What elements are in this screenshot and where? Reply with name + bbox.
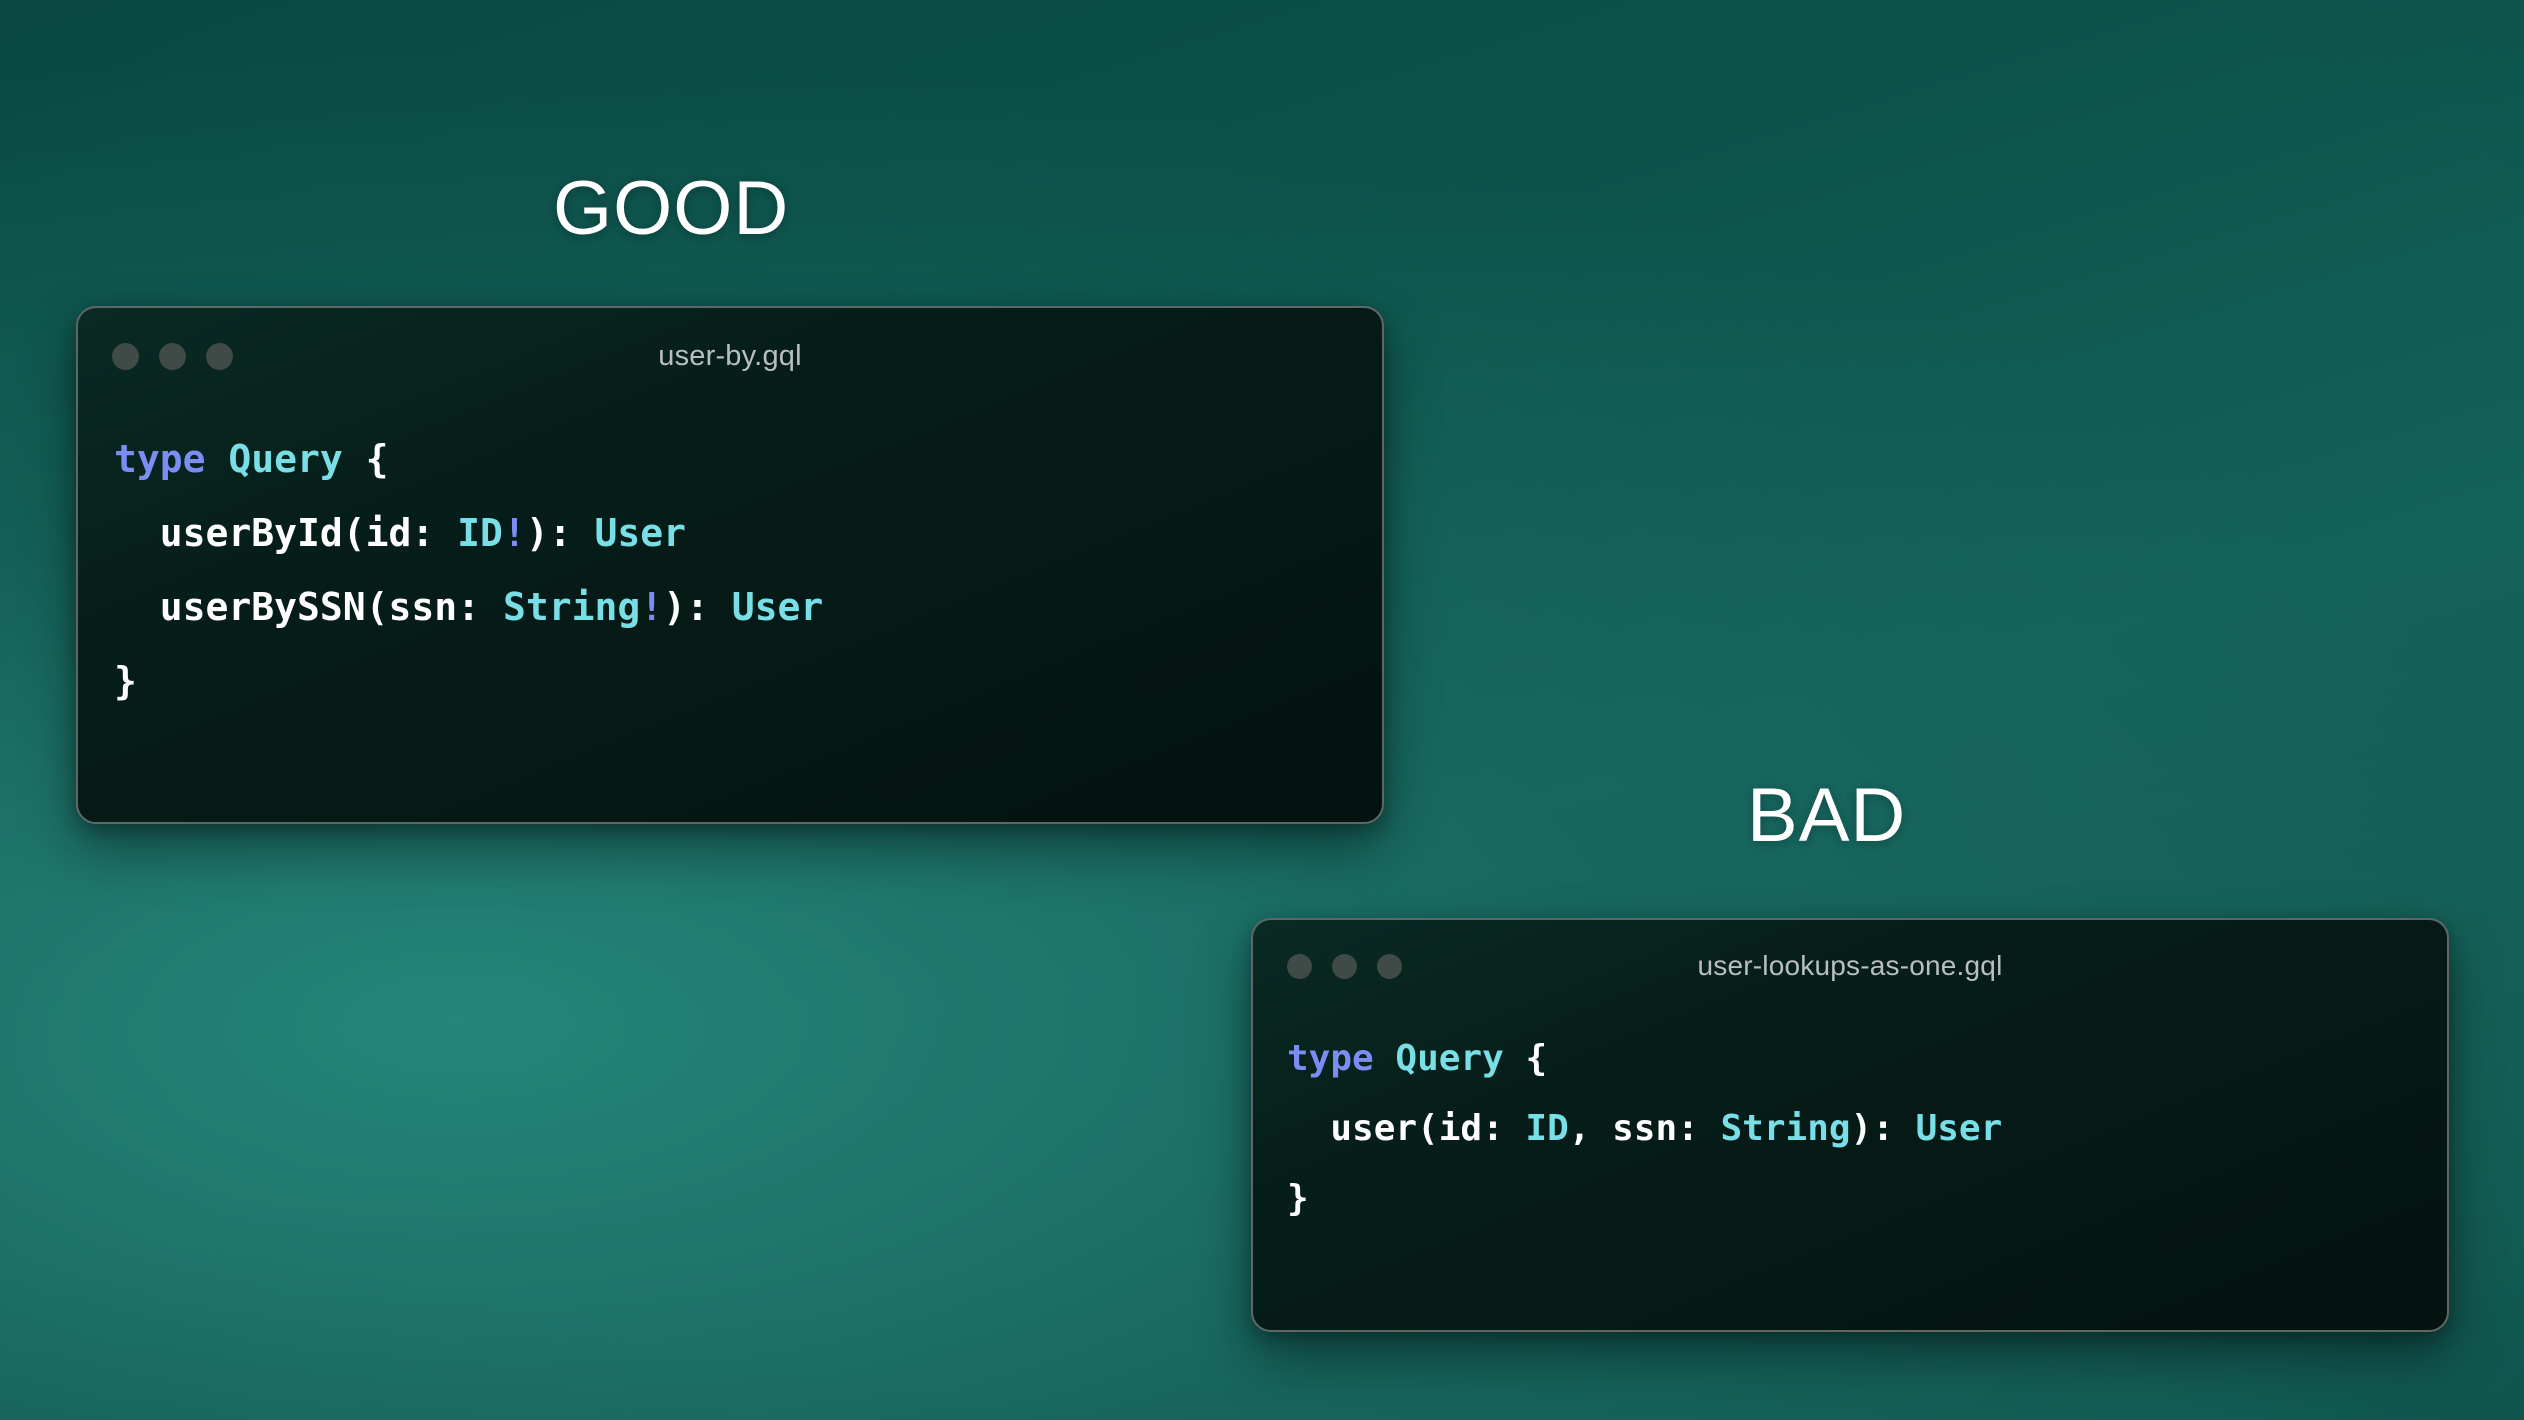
- window-controls-good: [112, 343, 233, 370]
- code-content-good: type Query { userById(id: ID!): User use…: [78, 404, 1382, 752]
- code-token-plain: userBySSN(ssn:: [114, 585, 503, 629]
- code-content-bad: type Query { user(id: ID, ssn: String): …: [1253, 1012, 2447, 1264]
- code-token-type: Query: [1395, 1038, 1503, 1079]
- window-minimize-dot-icon[interactable]: [1332, 954, 1357, 979]
- code-token-plain: }: [114, 659, 137, 703]
- window-close-dot-icon[interactable]: [112, 343, 139, 370]
- code-token-type: ID: [457, 511, 503, 555]
- code-token-plain: {: [1504, 1038, 1547, 1079]
- code-token-plain: [1374, 1038, 1396, 1079]
- code-line: type Query {: [1287, 1024, 2413, 1094]
- code-token-type: User: [732, 585, 824, 629]
- window-maximize-dot-icon[interactable]: [206, 343, 233, 370]
- code-token-type: User: [1916, 1108, 2003, 1149]
- code-card-good: user-by.gql type Query { userById(id: ID…: [76, 306, 1384, 824]
- code-token-type: String: [503, 585, 640, 629]
- titlebar-good: user-by.gql: [78, 308, 1382, 404]
- label-bad: BAD: [1747, 778, 1906, 854]
- code-token-plain: }: [1287, 1178, 1309, 1219]
- file-title-good: user-by.gql: [78, 340, 1382, 373]
- code-line: user(id: ID, ssn: String): User: [1287, 1094, 2413, 1164]
- window-close-dot-icon[interactable]: [1287, 954, 1312, 979]
- window-controls-bad: [1287, 954, 1402, 979]
- titlebar-bad: user-lookups-as-one.gql: [1253, 920, 2447, 1012]
- code-line: type Query {: [114, 422, 1346, 496]
- code-token-plain: [206, 437, 229, 481]
- code-token-plain: ):: [663, 585, 732, 629]
- code-token-plain: ):: [526, 511, 595, 555]
- file-title-bad: user-lookups-as-one.gql: [1253, 950, 2447, 982]
- code-token-plain: user(id:: [1287, 1108, 1525, 1149]
- code-line: }: [1287, 1164, 2413, 1234]
- window-maximize-dot-icon[interactable]: [1377, 954, 1402, 979]
- code-token-plain: {: [343, 437, 389, 481]
- code-token-plain: userById(id:: [114, 511, 457, 555]
- window-minimize-dot-icon[interactable]: [159, 343, 186, 370]
- label-good: GOOD: [553, 171, 789, 247]
- code-line: userById(id: ID!): User: [114, 496, 1346, 570]
- code-token-kw: type: [1287, 1038, 1374, 1079]
- code-token-bang: !: [503, 511, 526, 555]
- code-token-bang: !: [640, 585, 663, 629]
- code-token-type: String: [1721, 1108, 1851, 1149]
- code-token-plain: ):: [1851, 1108, 1916, 1149]
- code-card-bad: user-lookups-as-one.gql type Query { use…: [1251, 918, 2449, 1332]
- code-token-kw: type: [114, 437, 206, 481]
- code-token-plain: , ssn:: [1569, 1108, 1721, 1149]
- code-token-type: Query: [228, 437, 342, 481]
- code-line: userBySSN(ssn: String!): User: [114, 570, 1346, 644]
- code-token-type: User: [594, 511, 686, 555]
- code-line: }: [114, 644, 1346, 718]
- code-token-type: ID: [1525, 1108, 1568, 1149]
